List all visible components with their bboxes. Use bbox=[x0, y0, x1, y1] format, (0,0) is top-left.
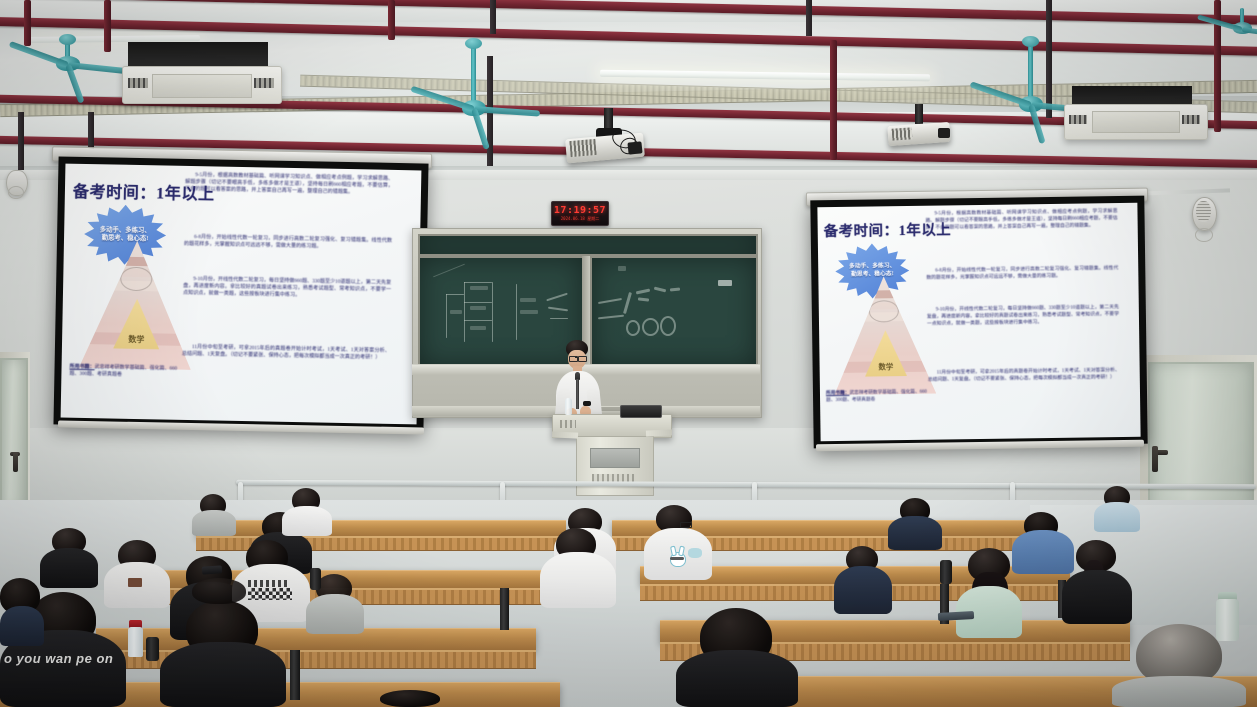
blackboard-right-panel bbox=[590, 256, 758, 368]
glasses-bridge bbox=[575, 357, 579, 358]
blackboard-top-strip bbox=[418, 234, 758, 256]
slide-paragraph-4-right: 11月份中旬至考研，可拿2015年后的真题卷开始计时考试，1天考试、1天对答案分… bbox=[928, 368, 1120, 384]
slide-pyramid-image: 数学 bbox=[79, 240, 193, 370]
burst-line-1-right: 多动手、多练习、 bbox=[849, 263, 895, 271]
burst-line-2: 勤思考、稳心态! bbox=[99, 234, 150, 243]
slide-left: 备考时间：1年以上 多动手、多练习、 勤思考、稳心态! bbox=[61, 164, 422, 425]
slide-paragraph-3: 9-10月份，开线性代数二轮复习，每日坚持做660题、330题至少10道题以上，… bbox=[183, 276, 391, 302]
pyramid-label-right: 数学 bbox=[878, 361, 893, 372]
slide-burst-right: 多动手、多练习、 勤思考、稳心态! bbox=[835, 243, 910, 299]
shirt-patch bbox=[128, 578, 142, 587]
wrist-watch bbox=[583, 401, 591, 406]
pipe-hanger-5 bbox=[388, 0, 395, 40]
digital-wall-clock: 17:19:57 2024.06.18 星期二 bbox=[551, 201, 609, 226]
pipe-hanger-6 bbox=[490, 0, 496, 34]
slide-burst: 多动手、多练习、 勤思考、稳心态! bbox=[84, 204, 167, 266]
clock-time: 17:19:57 bbox=[554, 205, 606, 216]
pipe-hanger-2 bbox=[104, 0, 111, 52]
podium-water-bottle bbox=[565, 398, 572, 415]
podium-vent bbox=[560, 420, 576, 428]
glasses-right-lens bbox=[578, 356, 587, 362]
podium-panel bbox=[590, 448, 640, 468]
desk-leg-2 bbox=[290, 650, 300, 700]
pipe-hanger-3 bbox=[18, 112, 24, 170]
slide-paragraph-2: 6-8月份，开始线性代数一轮复习，同步进行高数二轮复习强化、复习错题集。线性代数… bbox=[184, 234, 392, 252]
pipe-hanger-10 bbox=[1046, 0, 1052, 118]
screen-surface-right: 备考时间：1年以上 多动手、多练习、 勤思考、稳心态! bbox=[817, 203, 1140, 441]
checker-graphic bbox=[248, 588, 292, 600]
desk-leg-1 bbox=[500, 588, 509, 630]
slide-books-label-right: 所用书籍： bbox=[826, 391, 850, 396]
desk-row-a-left bbox=[196, 520, 566, 537]
screen-surface-left: 备考时间：1年以上 多动手、多练习、 勤思考、稳心态! bbox=[61, 164, 422, 425]
lecture-hall-photo: 备考时间：1年以上 多动手、多练习、 勤思考、稳心态! bbox=[0, 0, 1257, 707]
slide-paragraph-4: 11月份中旬至考研，可拿2015年后的真题卷开始计时考试，1天考试、1天对答案分… bbox=[182, 344, 390, 362]
pipe-hanger-1 bbox=[24, 0, 31, 46]
blackboard-left-panel bbox=[418, 256, 584, 368]
slide-paragraph-3-right: 9-10月份，开线性代数二轮复习，每日坚持做660题、330题至少10道题以上，… bbox=[927, 305, 1119, 328]
podium-monitor bbox=[620, 405, 662, 418]
slide-paragraph-2-right: 6-8月份，开始线性代数一轮复习，同步进行高数二轮复习强化、复习错题集。线性代数… bbox=[926, 266, 1118, 282]
podium-side-left bbox=[552, 431, 578, 438]
slide-books-label: 所用书籍： bbox=[70, 365, 95, 370]
slide-paragraph-1: 9-5月份，根据高数教材基础篇、听网课学习知识点、做相应考点例题，学习求解思路、… bbox=[185, 172, 393, 198]
clock-date: 2024.06.18 星期二 bbox=[561, 216, 600, 222]
slide-right: 备考时间：1年以上 多动手、多练习、 勤思考、稳心态! bbox=[817, 203, 1140, 441]
pipe-hanger-8 bbox=[806, 0, 812, 36]
microphone-handle bbox=[576, 379, 579, 409]
slide-pyramid-image-right: 数学 bbox=[833, 276, 937, 395]
burst-line-2-right: 勤思考、稳心态! bbox=[849, 271, 895, 279]
pipe-hanger-9 bbox=[830, 40, 837, 160]
tee-text: o you wan pe on bbox=[4, 650, 124, 667]
slide-paragraph-1-right: 9-5月份，根据高数教材基础篇、听网课学习知识点、做相应考点例题，学习求解思路、… bbox=[925, 209, 1117, 232]
pyramid-label: 数学 bbox=[128, 334, 144, 345]
